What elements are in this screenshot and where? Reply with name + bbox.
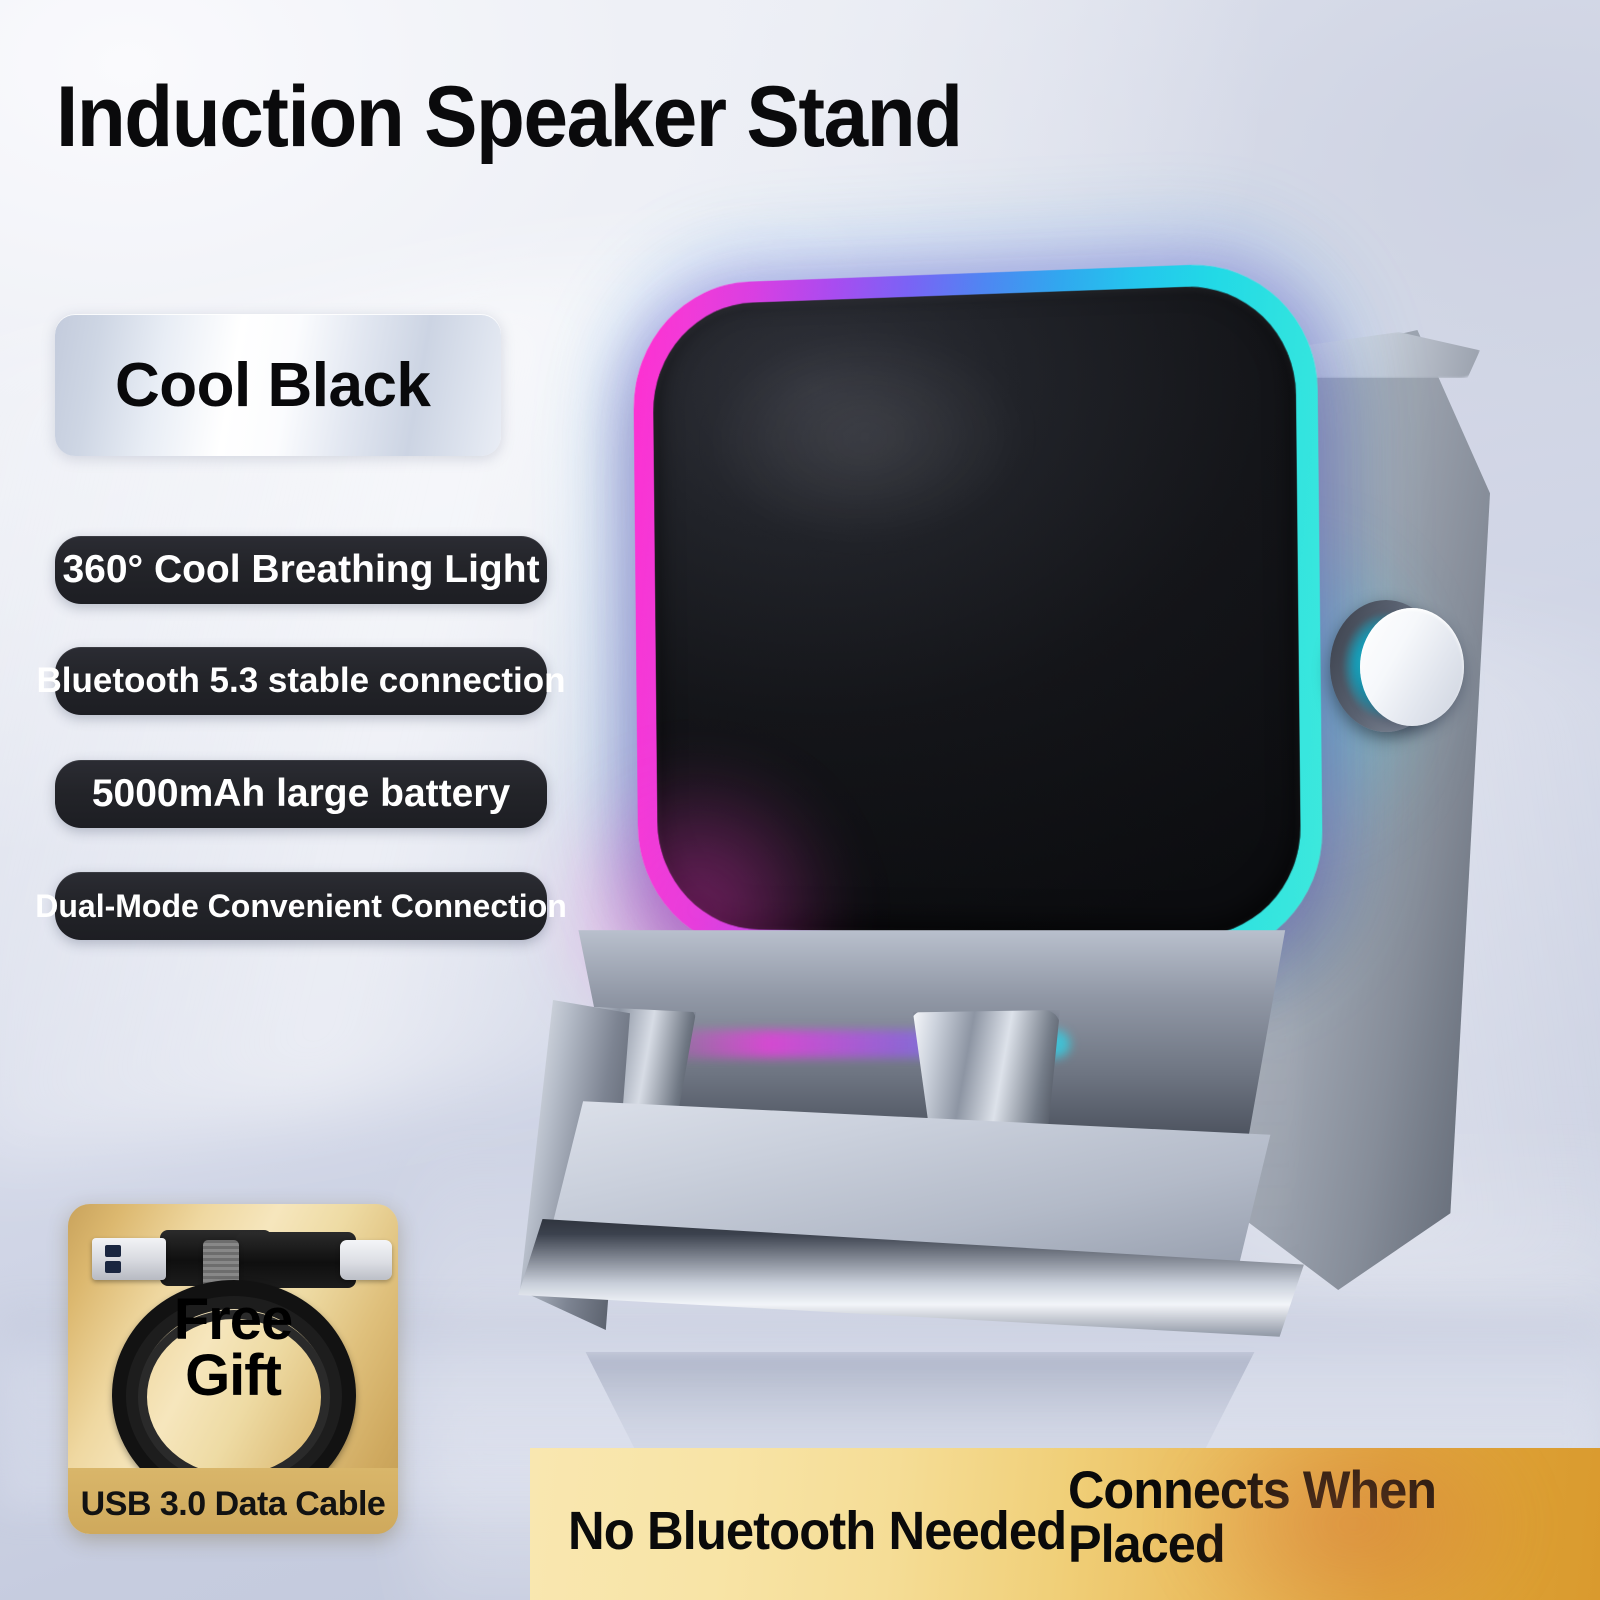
speaker-grille-icon <box>652 283 1301 938</box>
banner-text-connects-when-placed: Connects When Placed <box>1068 1464 1524 1572</box>
under-panel-glow <box>640 1030 1070 1058</box>
stand-cradle-lip-left <box>556 1005 696 1123</box>
feature-pill-label: 5000mAh large battery <box>92 772 510 816</box>
banner-text-no-bluetooth: No Bluetooth Needed <box>568 1500 1066 1562</box>
free-gift-caption: USB 3.0 Data Cable <box>68 1485 398 1524</box>
cyan-glow-bloom <box>1140 520 1440 860</box>
speaker-cabinet <box>1160 330 1490 1290</box>
free-gift-card: Free Gift USB 3.0 Data Cable <box>68 1204 398 1534</box>
speaker-cabinet-top-edge <box>1168 332 1480 378</box>
free-gift-headline-line2: Gift <box>68 1348 398 1404</box>
usb-a-connector-icon <box>92 1238 166 1280</box>
feature-pill-battery: 5000mAh large battery <box>55 760 547 828</box>
stand-base-plate <box>512 1090 1302 1370</box>
free-gift-headline-line1: Free <box>174 1287 293 1352</box>
stand-side-arm <box>520 1000 630 1330</box>
stand-backplate <box>548 930 1308 1230</box>
product-marketing-image: Induction Speaker Stand Cool Black 360° … <box>0 0 1600 1600</box>
feature-pill-bluetooth: Bluetooth 5.3 stable connection <box>55 647 547 715</box>
feature-pill-label: Bluetooth 5.3 stable connection <box>37 661 566 701</box>
speaker-rear-slab <box>1120 360 1350 1180</box>
magenta-glow-bloom <box>548 760 848 1060</box>
knob-mount <box>1330 600 1442 732</box>
stand-base-rim <box>502 1200 1312 1390</box>
rgb-light-ring-icon <box>633 260 1324 960</box>
background-light-sweep-right <box>795 554 1600 1334</box>
usb-c-cable-body <box>236 1232 356 1288</box>
feature-pill-label: Dual-Mode Convenient Connection <box>35 888 567 925</box>
color-variant-chip[interactable]: Cool Black <box>55 314 501 456</box>
stand-cradle-lip-right <box>910 1010 1060 1130</box>
free-gift-headline: Free Gift <box>68 1292 398 1405</box>
feature-pill-breathing-light: 360° Cool Breathing Light <box>55 536 547 604</box>
power-knob-icon <box>1360 608 1464 726</box>
feature-pill-label: 360° Cool Breathing Light <box>62 548 539 592</box>
color-variant-label: Cool Black <box>55 350 430 421</box>
page-title: Induction Speaker Stand <box>56 74 962 160</box>
usb-c-connector-icon <box>340 1240 392 1280</box>
knob-glow-ring <box>1342 612 1430 720</box>
bottom-promo-banner: No Bluetooth Needed Connects When Placed <box>530 1448 1600 1600</box>
feature-pill-dual-mode: Dual-Mode Convenient Connection <box>55 872 547 940</box>
